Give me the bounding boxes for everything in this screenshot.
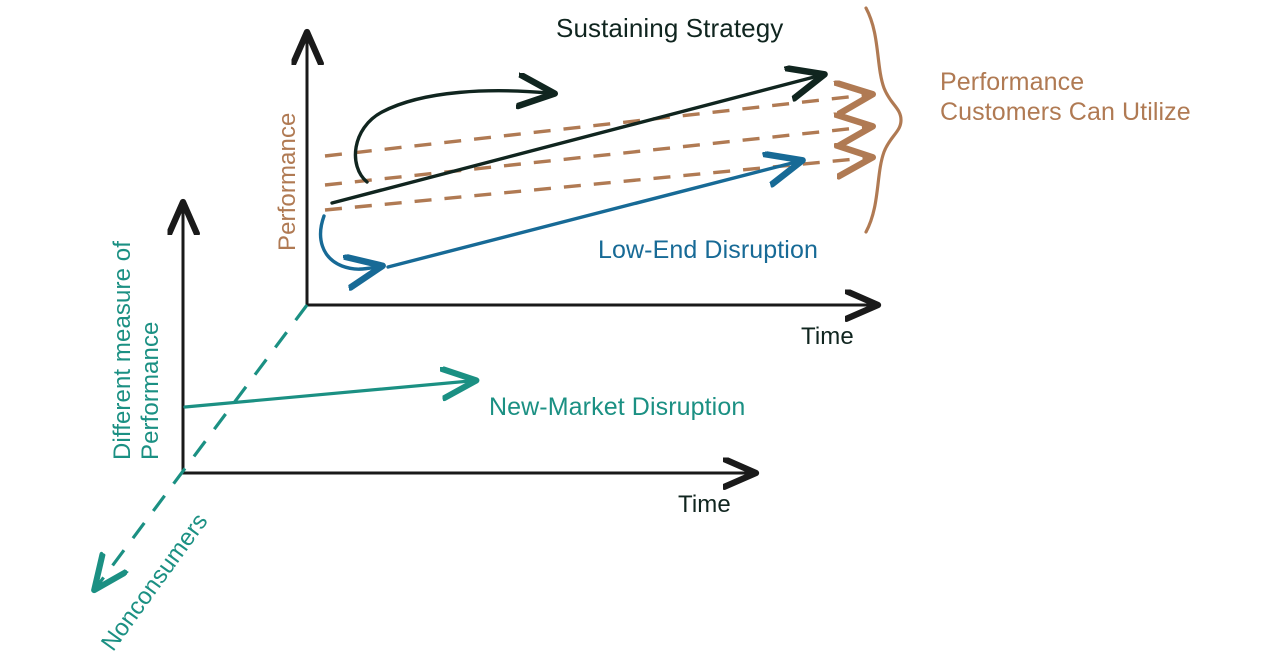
label-time-upper-axis: Time <box>801 323 854 351</box>
label-performance-axis: Performance <box>274 113 302 252</box>
utilize-band-high <box>325 95 866 156</box>
label-low-end-disruption: Low-End Disruption <box>598 236 818 266</box>
label-performance-utilize-line2: Customers Can Utilize <box>940 98 1191 128</box>
new-market-disruption-line <box>185 381 470 407</box>
low-end-entry-hook <box>321 216 376 269</box>
label-time-lower-axis: Time <box>678 491 731 519</box>
label-different-measure-line1: Different measure of <box>109 241 137 460</box>
sustaining-curved-arrow <box>355 91 548 182</box>
label-performance-utilize-line1: Performance <box>940 68 1191 98</box>
label-performance-customers-can-utilize: Performance Customers Can Utilize <box>940 68 1191 127</box>
performance-utilize-bands <box>325 95 866 210</box>
diagram-canvas: Sustaining Strategy Performance Customer… <box>0 0 1274 667</box>
label-different-measure-of-performance: Different measure of Performance <box>109 241 164 460</box>
performance-utilize-brace <box>866 8 901 232</box>
label-sustaining-strategy: Sustaining Strategy <box>556 13 783 44</box>
label-new-market-disruption: New-Market Disruption <box>489 393 745 423</box>
label-different-measure-line2: Performance <box>137 241 165 460</box>
